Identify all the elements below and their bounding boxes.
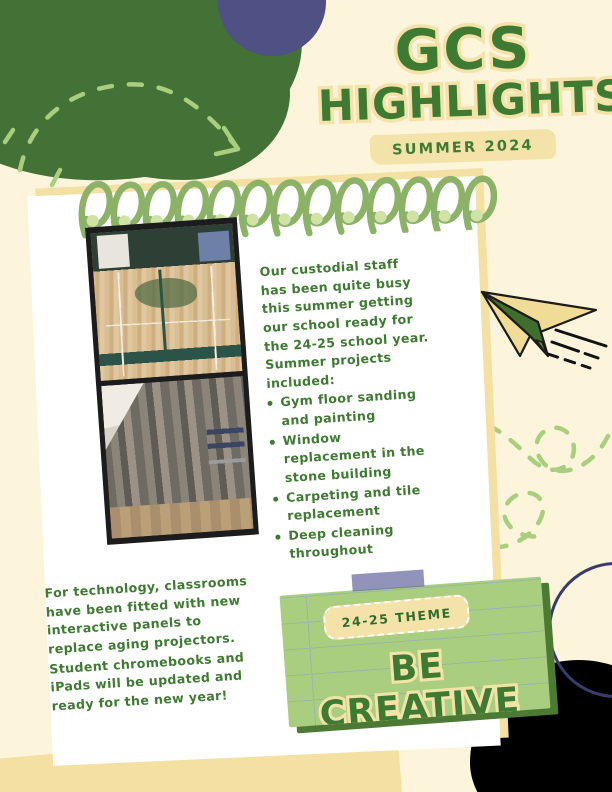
- hallway-equipment: [206, 422, 247, 489]
- page-subtitle: SUMMER 2024: [392, 138, 534, 159]
- technology-paragraph-1: For technology, classrooms have been fit…: [44, 571, 260, 659]
- gym-floor-photo: [91, 223, 243, 386]
- flyer-canvas: GCS HIGHLIGHTS SUMMER 2024: [0, 0, 612, 792]
- carpet-tile-image: [101, 376, 253, 539]
- theme-badge-label: 24-25 THEME: [341, 605, 452, 630]
- theme-card: 24-25 THEME BE CREATIVE: [280, 577, 551, 728]
- technology-text: For technology, classrooms have been fit…: [44, 571, 264, 715]
- summer-projects-text: Our custodial staff has been quite busy …: [259, 253, 445, 565]
- page-title-secondary: HIGHLIGHTS: [317, 76, 608, 129]
- paper-airplane-icon: [478, 274, 612, 372]
- projects-list: Gym floor sanding and painting Window re…: [267, 384, 445, 564]
- carpet-tile-photo: [101, 376, 253, 539]
- gym-center-logo: [134, 276, 198, 310]
- gym-floor-image: [91, 223, 243, 381]
- header-title-block: GCS HIGHLIGHTS SUMMER 2024: [318, 22, 608, 162]
- photo-frame: [85, 217, 259, 545]
- list-item: Window replacement in the stone building: [269, 423, 440, 489]
- intro-paragraph: Our custodial staff has been quite busy …: [259, 253, 434, 393]
- gym-wall-mat: [197, 231, 230, 261]
- gym-doorway: [96, 234, 129, 269]
